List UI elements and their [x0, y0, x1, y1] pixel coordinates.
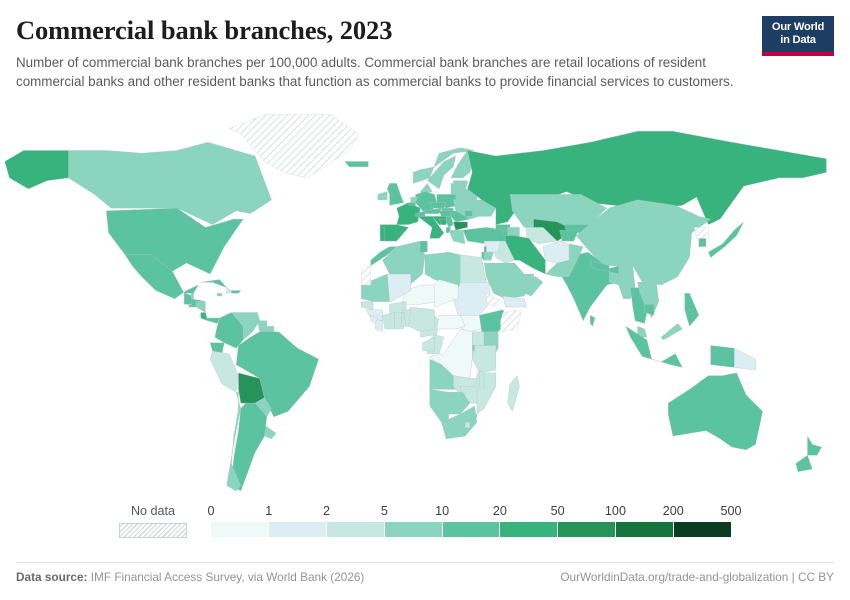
legend-bin-3: [385, 522, 443, 537]
map-country[interactable]: Liberia: [375, 321, 382, 332]
legend-tick-20: 20: [493, 505, 507, 518]
map-country[interactable]: New Zealand: [796, 455, 813, 471]
map-country[interactable]: United Arab Emirates: [522, 274, 534, 280]
map-country[interactable]: Central African Republic: [437, 315, 465, 329]
map-country[interactable]: North Korea: [694, 227, 708, 238]
map-country[interactable]: Papua New Guinea: [734, 348, 755, 370]
map-country[interactable]: Yemen: [503, 296, 527, 307]
map-country[interactable]: Greece: [449, 230, 466, 244]
map-country[interactable]: Latvia: [451, 183, 468, 188]
map-country[interactable]: Belgium: [408, 203, 415, 206]
map-country[interactable]: Egypt: [460, 255, 486, 282]
map-country[interactable]: Malawi: [479, 370, 484, 389]
map-country[interactable]: Bulgaria: [453, 222, 467, 230]
legend-tick-0: 0: [207, 505, 214, 518]
legend-bin-8: [674, 522, 731, 537]
legend-bin-5: [500, 522, 558, 537]
map-country[interactable]: Uganda: [472, 332, 484, 346]
map-country[interactable]: Philippines: [685, 293, 699, 326]
map-country[interactable]: Namibia: [430, 389, 449, 422]
map-country[interactable]: Lithuania: [451, 189, 465, 194]
map-country-layer: United StatesCanadaMexicoGreenlandAlaska…: [5, 115, 827, 491]
legend-color-bins: [211, 522, 731, 537]
page-title: Commercial bank branches, 2023: [16, 16, 834, 46]
legend-tick-10: 10: [435, 505, 449, 518]
footer-data-source: Data source: IMF Financial Access Survey…: [16, 570, 364, 584]
legend-tick-500: 500: [720, 505, 741, 518]
map-country[interactable]: Jamaica: [217, 293, 222, 296]
chart-subtitle: Number of commercial bank branches per 1…: [16, 53, 741, 91]
map-country[interactable]: Lebanon: [484, 247, 486, 252]
legend-bin-4: [443, 522, 501, 537]
footer-attribution[interactable]: OurWorldinData.org/trade-and-globalizati…: [560, 570, 834, 584]
map-country[interactable]: Sudan: [453, 282, 491, 315]
map-country[interactable]: Somalia: [501, 310, 522, 332]
legend-bin-6: [558, 522, 616, 537]
map-country[interactable]: Jordan: [484, 252, 493, 260]
legend-no-data[interactable]: No data: [119, 505, 187, 538]
legend-tick-5: 5: [381, 505, 388, 518]
map-country[interactable]: Haiti: [227, 288, 232, 294]
map-country[interactable]: Estonia: [453, 181, 467, 184]
legend-no-data-label: No data: [119, 505, 187, 518]
map-country[interactable]: Madagascar: [508, 376, 520, 412]
map-country[interactable]: Indonesia: [711, 345, 735, 367]
map-country[interactable]: Czechia: [430, 203, 447, 209]
logo-line-1: Our World: [766, 21, 830, 34]
map-country[interactable]: Uruguay: [264, 425, 276, 439]
map-country[interactable]: Sri Lanka: [590, 315, 595, 326]
map-country[interactable]: Ivory Coast: [383, 312, 395, 328]
map-country[interactable]: Tunisia: [420, 241, 427, 252]
map-country[interactable]: Ireland: [378, 192, 387, 200]
map-country[interactable]: Eswatini: [475, 414, 477, 417]
map-country[interactable]: Cuba: [201, 280, 227, 288]
map-country[interactable]: Tanzania: [472, 345, 496, 372]
map-country[interactable]: Lesotho: [465, 422, 470, 428]
legend-bin-2: [327, 522, 385, 537]
footer-source-label: Data source:: [16, 570, 87, 584]
chart-header: Commercial bank branches, 2023 Number of…: [16, 16, 834, 91]
footer-source-text: IMF Financial Access Survey, via World B…: [91, 570, 365, 584]
map-country[interactable]: Tajikistan: [560, 230, 579, 241]
world-choropleth-map[interactable]: United StatesCanadaMexicoGreenlandAlaska…: [0, 112, 850, 502]
map-country[interactable]: New Zealand: [808, 436, 822, 455]
logo-line-2: in Data: [766, 34, 830, 47]
map-country[interactable]: Western Sahara: [361, 266, 370, 285]
legend-bin-0: [211, 522, 269, 537]
map-country[interactable]: Moldova: [465, 211, 472, 217]
owid-logo[interactable]: Our World in Data: [762, 16, 834, 56]
legend-tick-200: 200: [663, 505, 684, 518]
map-country[interactable]: Japan: [708, 222, 743, 258]
map-country[interactable]: Belize: [191, 293, 193, 298]
legend-tick-50: 50: [551, 505, 565, 518]
legend-bins[interactable]: 0125102050100200500: [211, 505, 731, 537]
chart-footer: Data source: IMF Financial Access Survey…: [16, 562, 834, 586]
legend-bin-7: [616, 522, 674, 537]
legend-tick-labels: 0125102050100200500: [211, 505, 731, 522]
owid-chart: Commercial bank branches, 2023 Number of…: [0, 0, 850, 600]
map-country[interactable]: South Korea: [699, 238, 706, 246]
map-country[interactable]: Malaysia: [661, 323, 682, 339]
map-country[interactable]: Iceland: [345, 161, 369, 166]
map-country[interactable]: Australia: [668, 373, 762, 450]
map-svg: United StatesCanadaMexicoGreenlandAlaska…: [0, 112, 850, 502]
legend-bin-1: [269, 522, 327, 537]
map-country[interactable]: Peru: [210, 351, 238, 392]
map-country[interactable]: Alaska: [5, 150, 69, 188]
map-legend: No data 0125102050100200500: [0, 505, 850, 553]
legend-tick-2: 2: [323, 505, 330, 518]
legend-tick-1: 1: [265, 505, 272, 518]
map-country[interactable]: Slovakia: [442, 208, 454, 211]
map-country[interactable]: Afghanistan: [543, 241, 569, 263]
map-country[interactable]: Portugal: [380, 227, 385, 241]
map-country[interactable]: United Kingdom: [387, 183, 404, 205]
map-country[interactable]: Gabon: [423, 337, 435, 351]
map-country[interactable]: Nicaragua: [196, 302, 205, 313]
legend-tick-100: 100: [605, 505, 626, 518]
map-country[interactable]: Dominican Republic: [231, 291, 240, 294]
map-country[interactable]: Senegal: [361, 302, 373, 310]
legend-no-data-swatch: [119, 523, 187, 538]
